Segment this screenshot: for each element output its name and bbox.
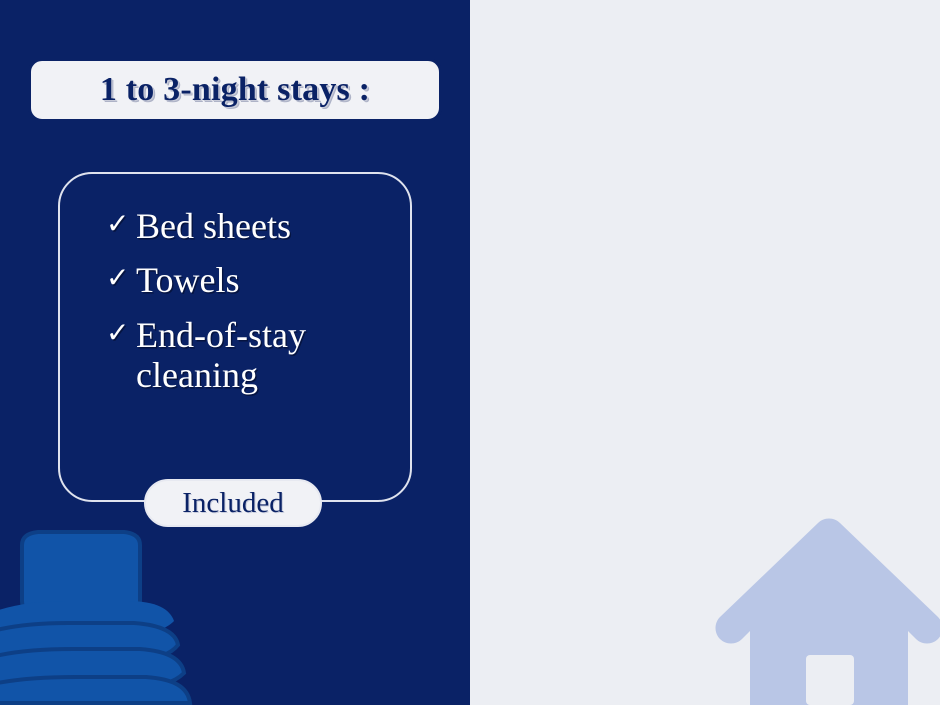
list-item: ✓ Towels	[106, 260, 392, 300]
check-mark-icon: ✓	[106, 315, 136, 353]
status-badge-included: Included	[144, 479, 322, 527]
left-panel-title: 1 to 3-night stays :	[28, 58, 442, 122]
infographic-canvas: 1 to 3-night stays : ✓ Bed sheets ✓ Towe…	[0, 0, 940, 705]
check-mark-icon: ✓	[106, 206, 136, 244]
left-panel-list-box: ✓ Bed sheets ✓ Towels ✓ End-of-stay clea…	[58, 172, 412, 502]
list-item: ✓ Bed sheets	[106, 206, 392, 246]
folded-linens-icon	[0, 515, 238, 705]
left-panel: 1 to 3-night stays : ✓ Bed sheets ✓ Towe…	[0, 0, 470, 705]
house-icon	[690, 515, 940, 705]
check-mark-icon: ✓	[106, 260, 136, 298]
list-item-label: Towels	[136, 260, 392, 300]
left-panel-list: ✓ Bed sheets ✓ Towels ✓ End-of-stay clea…	[60, 206, 410, 409]
list-item-label: Bed sheets	[136, 206, 392, 246]
list-item-label: End-of-stay cleaning	[136, 315, 392, 396]
right-panel: 4-night stays and + : ✗ Bed sheets ✗ Tow…	[470, 0, 940, 705]
list-item: ✓ End-of-stay cleaning	[106, 315, 392, 396]
panel-divider	[470, 0, 473, 705]
